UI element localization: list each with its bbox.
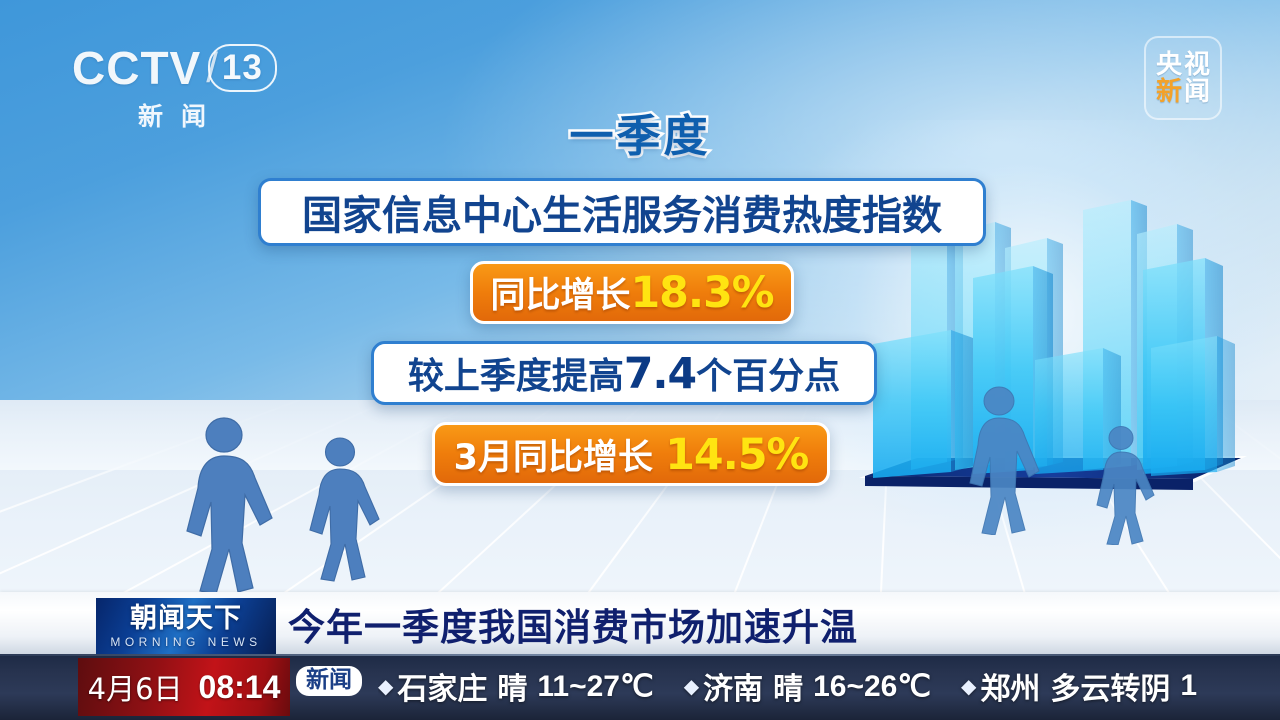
- program-name-cn: 朝闻天下: [130, 604, 242, 634]
- stat-march-value: 14.5%: [665, 430, 808, 480]
- weather-bullet-icon: ◆: [378, 674, 393, 698]
- walking-person-icon-platform-2: [1085, 425, 1157, 550]
- watermark-line-2: 新 闻: [1156, 79, 1210, 105]
- watermark-char-xin: 新: [1156, 79, 1182, 105]
- cctv-channel-number-badge: 13: [208, 44, 277, 92]
- weather-ticker: ◆ 石家庄 晴 11~27℃ ◆ 济南 晴 16~26℃ ◆ 郑州 多云转阴 1: [378, 660, 1280, 712]
- weather-temperature: 11~27℃: [537, 669, 653, 704]
- cctv-channel-logo: CCTV / 13 新闻: [72, 44, 312, 138]
- news-badge-label: 新闻: [306, 667, 352, 693]
- weather-condition: 多云转阴: [1050, 664, 1170, 708]
- ticker-date: 4月6日: [88, 666, 183, 708]
- program-logo: 朝闻天下 MORNING NEWS: [96, 598, 276, 654]
- news-badge: 新闻: [296, 666, 362, 696]
- stat-yoy-value: 18.3%: [630, 268, 773, 318]
- stat-panel-qoq: 较上季度提高7.4个百分点: [371, 341, 877, 405]
- weather-bullet-icon: ◆: [684, 674, 699, 698]
- watermark-char-wen: 闻: [1184, 79, 1210, 105]
- program-name-en: MORNING NEWS: [110, 635, 261, 649]
- cctv-channel-number: 13: [222, 44, 263, 92]
- news-headline: 今年一季度我国消费市场加速升温: [288, 598, 858, 650]
- cctv-wordmark: CCTV: [72, 44, 201, 92]
- weather-city: 济南: [703, 664, 763, 708]
- weather-city: 石家庄: [397, 664, 487, 708]
- stat-march-prefix: 3月同比增长: [454, 438, 666, 478]
- stat-yoy-prefix: 同比增长: [490, 276, 630, 316]
- weather-item: ◆ 石家庄 晴 11~27℃: [378, 664, 654, 708]
- weather-city: 郑州: [980, 664, 1040, 708]
- weather-item: ◆ 济南 晴 16~26℃: [684, 664, 931, 708]
- cctv-news-watermark: 央 视 新 闻: [1144, 36, 1222, 120]
- index-title-panel: 国家信息中心生活服务消费热度指数: [258, 178, 986, 246]
- walking-person-icon-foreground-small: [296, 436, 382, 587]
- weather-condition: 晴: [773, 664, 803, 708]
- index-title-text: 国家信息中心生活服务消费热度指数: [302, 183, 942, 241]
- cctv-channel-subtitle: 新闻: [72, 97, 272, 133]
- datetime-box: 4月6日 08:14: [78, 658, 290, 716]
- watermark-char-yang: 央: [1156, 52, 1182, 78]
- watermark-char-shi: 视: [1184, 52, 1210, 78]
- walking-person-icon-foreground-large: [168, 415, 276, 600]
- stat-qoq-suffix: 个百分点: [696, 356, 840, 397]
- stat-yoy-line: 同比增长18.3%: [490, 267, 773, 318]
- broadcast-screen: CCTV / 13 新闻 央 视 新 闻: [0, 0, 1280, 720]
- weather-item: ◆ 郑州 多云转阴 1: [961, 664, 1197, 708]
- watermark-line-1: 央 视: [1156, 52, 1210, 78]
- weather-bullet-icon: ◆: [961, 674, 976, 698]
- weather-condition: 晴: [497, 664, 527, 708]
- ticker-clock: 08:14: [199, 669, 281, 706]
- stat-qoq-prefix: 较上季度提高: [408, 356, 624, 397]
- stat-qoq-value: 7.4: [624, 350, 696, 399]
- weather-temperature: 1: [1180, 669, 1197, 703]
- stat-panel-march-yoy: 3月同比增长 14.5%: [432, 422, 830, 486]
- stat-panel-yoy: 同比增长18.3%: [470, 261, 794, 324]
- walking-person-icon-platform-1: [955, 385, 1043, 540]
- stat-qoq-line: 较上季度提高7.4个百分点: [408, 347, 840, 399]
- stat-march-line: 3月同比增长 14.5%: [454, 429, 809, 480]
- weather-temperature: 16~26℃: [813, 669, 931, 704]
